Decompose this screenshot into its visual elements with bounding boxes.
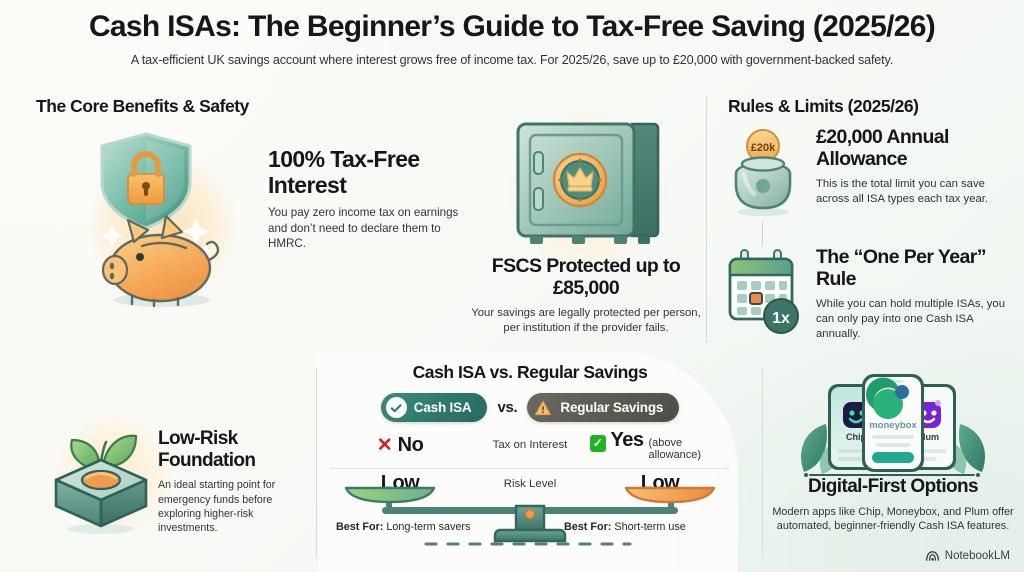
benefit-low-risk: Low-Risk Foundation An ideal starting po… <box>158 428 300 535</box>
section-heading-rules-limits: Rules & Limits (2025/26) <box>728 96 919 117</box>
comparison-row-tax-left-value: No <box>398 434 424 457</box>
divider-vertical-top <box>706 96 707 342</box>
pill-cash-isa-label: Cash ISA <box>414 400 472 415</box>
warning-triangle-icon <box>532 397 553 418</box>
benefit-low-risk-body: An ideal starting point for emergency fu… <box>158 478 300 535</box>
cross-icon: ✕ <box>377 436 393 455</box>
rule-allowance-title: £20,000 Annual Allowance <box>816 126 1016 170</box>
tick-box-icon: ✓ <box>590 435 606 452</box>
notebooklm-logo-icon <box>925 550 940 562</box>
safe-illustration <box>500 108 676 258</box>
page-subtitle: A tax-efficient UK savings account where… <box>0 53 1024 67</box>
seedling-illustration <box>42 416 160 536</box>
benefit-fscs: FSCS Protected up to £85,000 Your saving… <box>468 255 704 336</box>
piggy-bank-icon <box>78 120 248 310</box>
infographic-poster: Cash ISAs: The Beginner’s Guide to Tax-F… <box>0 0 1024 572</box>
section-heading-core-benefits: The Core Benefits & Safety <box>36 96 249 117</box>
benefit-fscs-title: FSCS Protected up to £85,000 <box>468 255 704 299</box>
pill-regular-savings-label: Regular Savings <box>560 400 663 415</box>
poster-header: Cash ISAs: The Beginner’s Guide to Tax-F… <box>0 10 1024 67</box>
comparison-row-tax-right: ✓ Yes (above allowance) <box>590 429 730 461</box>
comparison-row-tax: ✕ No Tax on Interest ✓ Yes (above allowa… <box>330 426 730 464</box>
comparison-row-tax-left: ✕ No <box>330 434 470 457</box>
balance-scale-icon <box>330 482 730 548</box>
benefit-fscs-body: Your savings are legally protected per p… <box>468 306 704 336</box>
calendar-icon: 1x <box>724 246 802 338</box>
notebooklm-watermark-label: NotebookLM <box>945 550 1010 562</box>
seedling-cube-icon <box>42 416 160 536</box>
app-name-moneybox: moneybox <box>869 420 917 431</box>
safe-vault-icon <box>500 108 676 258</box>
check-circle-icon <box>386 397 407 418</box>
rule-item-one-per-year: 1x The “One Per Year” Rule While you can… <box>724 246 1016 342</box>
phones-illustration: Chip Plum moneybox <box>786 372 998 480</box>
comparison-row-tax-right-note: (above allowance) <box>649 437 731 461</box>
best-for-left-value: Long-term savers <box>386 521 470 533</box>
rule-one-per-year-body: While you can hold multiple ISAs, you ca… <box>816 297 1016 342</box>
page-title: Cash ISAs: The Beginner’s Guide to Tax-F… <box>0 10 1024 44</box>
best-for-left: Best For: Long-term savers <box>336 521 470 533</box>
benefit-tax-free-title: 100% Tax-Free Interest <box>268 146 464 198</box>
money-pot-illustration: £20k <box>724 126 802 218</box>
calendar-badge-label: 1x <box>772 310 790 327</box>
comparison-row-tax-label: Tax on Interest <box>470 439 590 451</box>
rules-connector-line <box>762 222 763 246</box>
divider-vertical-bottom-left <box>316 368 317 558</box>
money-pot-icon: £20k <box>724 126 802 218</box>
comparison-row-tax-right-value: Yes <box>611 429 644 452</box>
best-for-left-label: Best For: <box>336 521 383 533</box>
savings-apps-icon: Chip Plum moneybox <box>786 372 998 480</box>
best-for-right-label: Best For: <box>564 521 611 533</box>
benefit-low-risk-title: Low-Risk Foundation <box>158 428 300 471</box>
benefit-digital-body: Modern apps like Chip, Moneybox, and Plu… <box>768 505 1018 534</box>
versus-label: vs. <box>497 399 517 416</box>
money-pot-label: £20k <box>751 142 776 154</box>
benefit-digital-first: Digital-First Options Modern apps like C… <box>768 476 1018 534</box>
rule-one-per-year-title: The “One Per Year” Rule <box>816 246 1016 290</box>
benefit-tax-free: 100% Tax-Free Interest You pay zero inco… <box>268 146 464 252</box>
benefit-digital-title: Digital-First Options <box>768 476 1018 498</box>
notebooklm-watermark: NotebookLM <box>925 550 1010 562</box>
benefit-tax-free-body: You pay zero income tax on earnings and … <box>268 205 464 251</box>
rule-allowance-body: This is the total limit you can save acr… <box>816 177 1016 207</box>
rule-item-allowance: £20k £20,000 Annual Allowance This is th… <box>724 126 1016 218</box>
rule-one-per-year-text: The “One Per Year” Rule While you can ho… <box>816 246 1016 342</box>
comparison-block: Cash ISA vs. Regular Savings Cash ISA vs… <box>330 362 730 498</box>
best-for-right-value: Short-term use <box>614 521 685 533</box>
best-for-right: Best For: Short-term use <box>564 521 686 533</box>
comparison-title: Cash ISA vs. Regular Savings <box>330 362 730 383</box>
divider-vertical-bottom-right <box>762 368 763 558</box>
rule-allowance-text: £20,000 Annual Allowance This is the tot… <box>816 126 1016 218</box>
calendar-illustration: 1x <box>724 246 802 338</box>
pill-regular-savings[interactable]: Regular Savings <box>527 393 679 422</box>
balance-scale-illustration <box>330 482 730 548</box>
piggy-bank-shield-illustration <box>78 120 248 310</box>
comparison-pills: Cash ISA vs. Regular Savings <box>330 393 730 422</box>
pill-cash-isa[interactable]: Cash ISA <box>381 393 488 422</box>
